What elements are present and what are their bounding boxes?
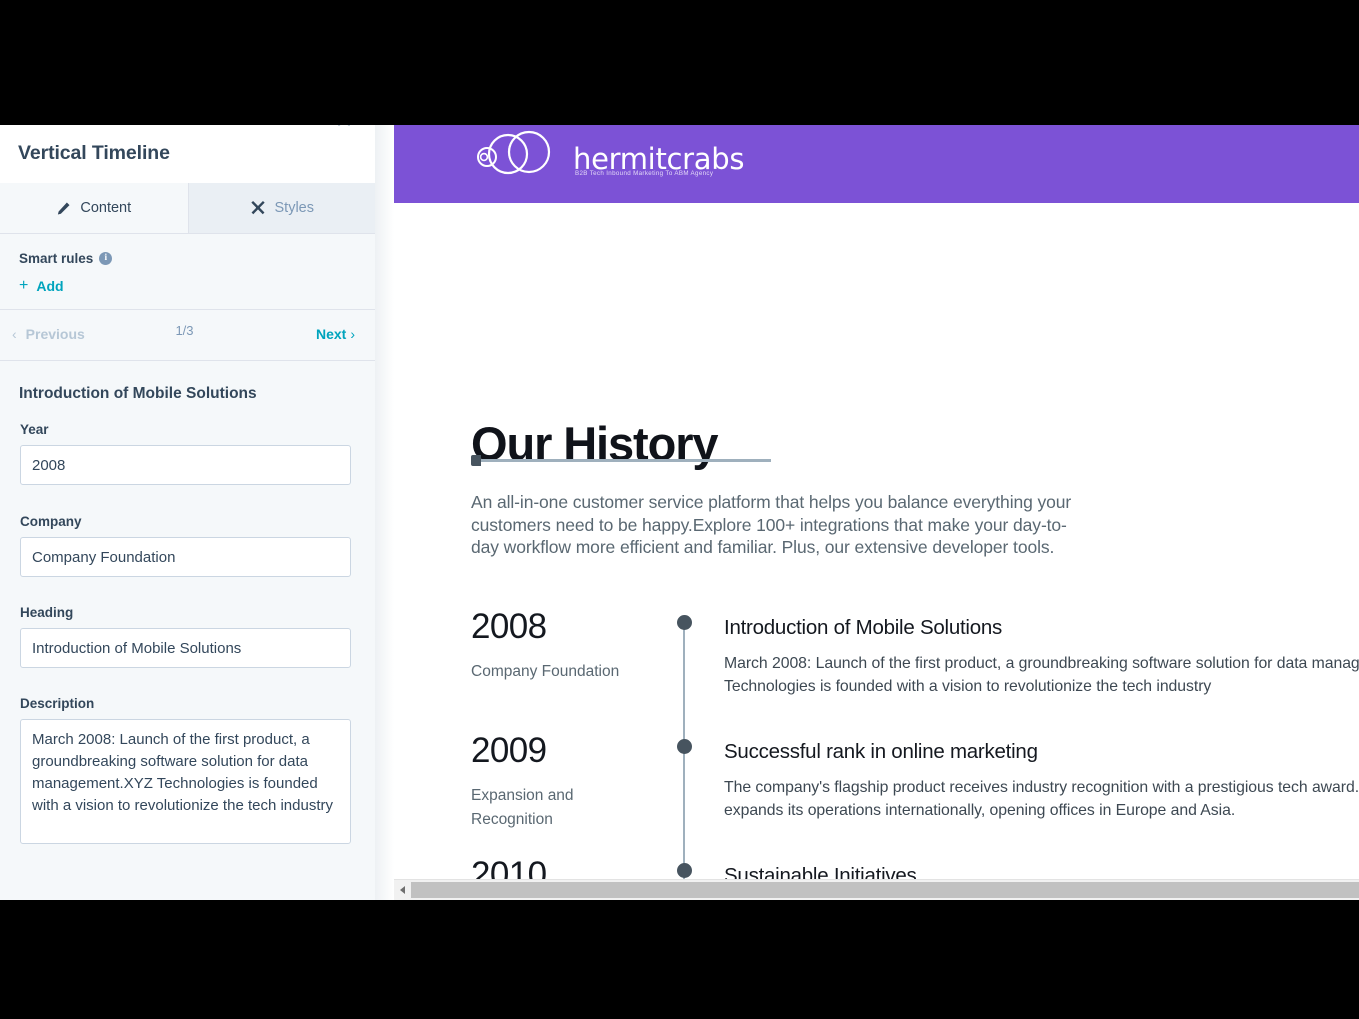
site-logo[interactable]: hermitcrabs B2B Tech Inbound Marketing T… (470, 127, 744, 190)
scroll-arrow-left-icon[interactable] (394, 880, 411, 900)
paintbrush-icon (250, 200, 266, 216)
heading-input[interactable] (20, 628, 351, 668)
year-input[interactable] (20, 445, 351, 485)
horizontal-scrollbar[interactable] (394, 879, 1359, 900)
panel-tabs: Content Styles (0, 183, 375, 234)
page-preview: hermitcrabs B2B Tech Inbound Marketing T… (394, 125, 1359, 900)
page-intro-paragraph: An all-in-one customer service platform … (471, 491, 1083, 559)
next-button[interactable]: Next › (316, 326, 355, 342)
tab-content[interactable]: Content (0, 183, 188, 233)
item-form: Introduction of Mobile Solutions Year Co… (0, 361, 375, 900)
browser-viewport: Vertical Timeline Content (0, 125, 1359, 900)
logo-tagline: B2B Tech Inbound Marketing To ABM Agency (575, 170, 713, 177)
scrollbar-thumb[interactable] (411, 882, 1359, 898)
item-pager: ‹ Previous 1/3 Next › (0, 310, 375, 361)
timeline-row: 2009 Expansion and Recognition Successfu… (394, 732, 1359, 856)
smart-rules-text: Smart rules (19, 251, 93, 266)
smart-rules-label: Smart rules i (19, 251, 112, 266)
hermitcrabs-circles-logo (470, 127, 562, 190)
smart-rules-section: Smart rules i + Add (0, 234, 375, 310)
plus-icon: + (19, 278, 28, 294)
field-description-label: Description (20, 696, 351, 711)
item-title: Introduction of Mobile Solutions (19, 385, 257, 403)
field-company-label: Company (20, 514, 351, 529)
tab-content-label: Content (80, 200, 131, 216)
timeline-dot (677, 739, 692, 754)
info-icon[interactable]: i (99, 252, 112, 265)
panel-title: Vertical Timeline (18, 142, 170, 165)
timeline: 2008 Company Foundation Introduction of … (394, 608, 1359, 900)
edit-panel: Vertical Timeline Content (0, 125, 375, 900)
tab-styles[interactable]: Styles (188, 183, 376, 233)
timeline-company: Expansion and Recognition (471, 784, 641, 832)
timeline-dot (677, 615, 692, 630)
close-icon[interactable] (335, 125, 353, 129)
field-heading-label: Heading (20, 605, 351, 620)
field-description: Description March 2008: Launch of the fi… (20, 696, 351, 849)
field-heading: Heading (20, 605, 351, 668)
description-textarea[interactable]: March 2008: Launch of the first product,… (20, 719, 351, 844)
chevron-right-icon: › (350, 326, 355, 342)
timeline-heading: Introduction of Mobile Solutions (724, 616, 1002, 640)
timeline-company: Company Foundation (471, 660, 641, 684)
timeline-description: The company's flagship product receives … (724, 776, 1359, 822)
company-input[interactable] (20, 537, 351, 577)
title-divider (471, 459, 771, 462)
add-label: Add (36, 278, 63, 294)
page-title: Our History (471, 416, 717, 471)
timeline-description: March 2008: Launch of the first product,… (724, 652, 1359, 698)
next-label: Next (316, 326, 346, 342)
pencil-icon (56, 201, 71, 216)
panel-scroll-edge[interactable] (375, 125, 394, 900)
screenshot-root: Vertical Timeline Content (0, 0, 1359, 1019)
timeline-row: 2008 Company Foundation Introduction of … (394, 608, 1359, 732)
timeline-year: 2008 (471, 608, 546, 646)
tab-styles-label: Styles (275, 200, 315, 216)
panel-titlebar: Vertical Timeline (0, 125, 375, 184)
timeline-dot (677, 863, 692, 878)
field-year-label: Year (20, 422, 351, 437)
divider-cap (471, 455, 481, 466)
timeline-year: 2009 (471, 732, 546, 770)
field-company: Company (20, 514, 351, 577)
add-smart-rule-button[interactable]: + Add (19, 278, 64, 294)
timeline-heading: Successful rank in online marketing (724, 740, 1038, 764)
field-year: Year (20, 422, 351, 485)
site-header: hermitcrabs B2B Tech Inbound Marketing T… (394, 125, 1359, 203)
